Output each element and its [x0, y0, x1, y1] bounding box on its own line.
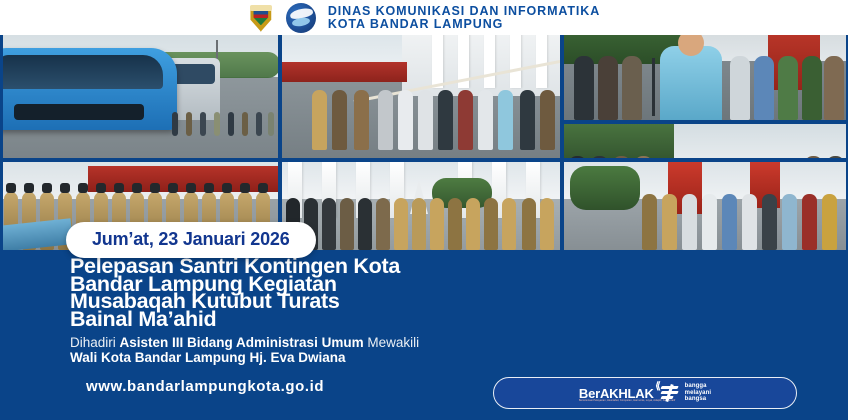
subtitle-emphasis: Asisten III Bidang Administrasi Umum [120, 335, 364, 350]
photo-speaker [660, 46, 722, 120]
website-url[interactable]: www.bandarlampungkota.go.id [86, 378, 324, 395]
berakhlak-badge: BerAKHLAK ⟪ Berorientasi Pelayanan, Akun… [493, 377, 797, 409]
header-title-block: DINAS KOMUNIKASI DAN INFORMATIKA KOTA BA… [328, 5, 600, 31]
photo-people [282, 78, 560, 150]
subtitle-line-1: Dihadiri Asisten III Bidang Administrasi… [70, 335, 790, 350]
photo-pillar-hall [282, 162, 560, 250]
photo-tree [570, 166, 640, 210]
photo-flag-ceremony [282, 18, 560, 158]
subtitle-block: Dihadiri Asisten III Bidang Administrasi… [70, 335, 790, 365]
photo-officials-row [564, 162, 848, 250]
page-title: Pelepasan Santri Kontingen Kota Bandar L… [70, 258, 790, 328]
header-line-1: DINAS KOMUNIKASI DAN INFORMATIKA [328, 5, 600, 18]
berakhlak-wordmark: BerAKHLAK ⟪ Berorientasi Pelayanan, Akun… [579, 387, 654, 400]
tagline-line-3: bangsa [685, 396, 711, 402]
subtitle-prefix: Dihadiri [70, 335, 120, 350]
bangga-melayani-bangsa-icon [661, 385, 678, 401]
header-bar: DINAS KOMUNIKASI DAN INFORMATIKA KOTA BA… [0, 0, 848, 35]
berakhlak-tagline: bangga melayani bangsa [685, 383, 711, 402]
collage-left-edge [0, 0, 3, 250]
date-badge-text: Jum’at, 23 Januari 2026 [92, 229, 290, 249]
photo-bus-departure [0, 18, 278, 158]
text-block: Pelepasan Santri Kontingen Kota Bandar L… [70, 258, 790, 365]
poster-root: DINAS KOMUNIKASI DAN INFORMATIKA KOTA BA… [0, 0, 848, 420]
header-line-2: KOTA BANDAR LAMPUNG [328, 18, 600, 31]
subtitle-line-2: Wali Kota Bandar Lampung Hj. Eva Dwiana [70, 350, 790, 365]
kominfo-logo-icon [286, 3, 316, 33]
photo-collage [0, 0, 848, 250]
date-badge: Jum’at, 23 Januari 2026 [66, 222, 316, 258]
subtitle-suffix: Mewakili [364, 335, 420, 350]
city-crest-icon [248, 4, 274, 32]
photo-microphone-stand [652, 58, 655, 116]
headline-line-4: Bainal Ma’ahid [70, 311, 790, 329]
photo-people [0, 118, 278, 158]
